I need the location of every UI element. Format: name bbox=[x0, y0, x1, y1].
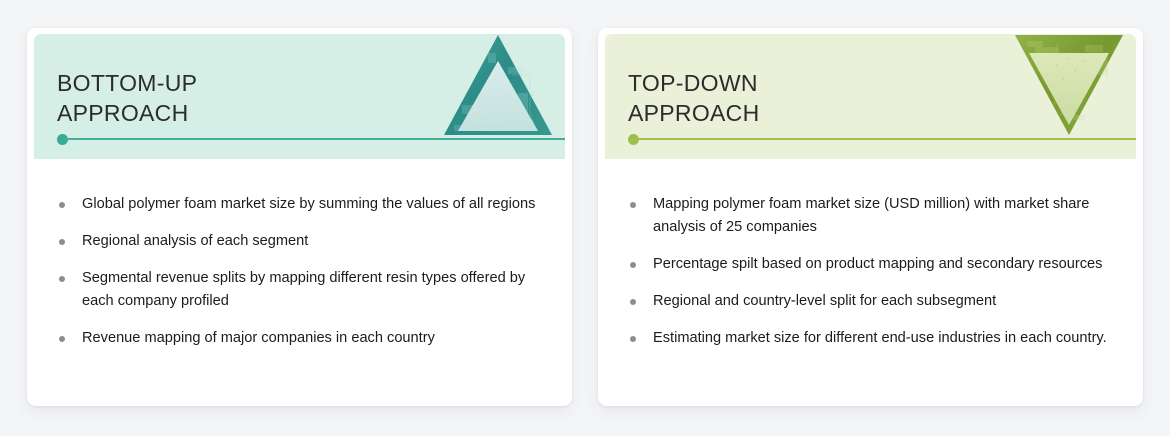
list-item-text: Mapping polymer foam market size (USD mi… bbox=[653, 196, 1089, 235]
bullet-dot-icon bbox=[630, 262, 636, 268]
approach-comparison-board: BOTTOM-UP APPROACH bbox=[0, 0, 1170, 436]
bullet-dot-icon bbox=[59, 276, 65, 282]
list-item: Regional and country-level split for eac… bbox=[622, 290, 1127, 313]
list-item: Percentage spilt based on product mappin… bbox=[622, 253, 1127, 276]
list-item: Revenue mapping of major companies in ea… bbox=[51, 327, 556, 350]
bullet-dot-icon bbox=[630, 202, 636, 208]
list-item: Estimating market size for different end… bbox=[622, 327, 1127, 350]
bullet-list-top-down: Mapping polymer foam market size (USD mi… bbox=[622, 193, 1127, 350]
list-item-text: Regional and country-level split for eac… bbox=[653, 293, 996, 309]
header-rule-bottom-up bbox=[57, 138, 565, 140]
triangle-up-icon bbox=[442, 34, 554, 139]
list-item-text: Percentage spilt based on product mappin… bbox=[653, 256, 1102, 272]
list-item-text: Revenue mapping of major companies in ea… bbox=[82, 330, 435, 346]
card-header-bottom-up: BOTTOM-UP APPROACH bbox=[34, 34, 565, 159]
list-item: Regional analysis of each segment bbox=[51, 230, 556, 253]
triangle-down-icon bbox=[1013, 34, 1125, 139]
list-item: Mapping polymer foam market size (USD mi… bbox=[622, 193, 1127, 239]
bullet-dot-icon bbox=[59, 202, 65, 208]
list-item: Segmental revenue splits by mapping diff… bbox=[51, 267, 556, 313]
bullet-dot-icon bbox=[59, 336, 65, 342]
header-rule-top-down bbox=[628, 138, 1136, 140]
card-top-down-approach: TOP-DOWN APPROACH bbox=[598, 28, 1143, 406]
list-item-text: Regional analysis of each segment bbox=[82, 233, 308, 249]
bullet-dot-icon bbox=[630, 336, 636, 342]
card-header-top-down: TOP-DOWN APPROACH bbox=[605, 34, 1136, 159]
list-item-text: Global polymer foam market size by summi… bbox=[82, 196, 535, 212]
card-bottom-up-approach: BOTTOM-UP APPROACH bbox=[27, 28, 572, 406]
card-title-bottom-up: BOTTOM-UP APPROACH bbox=[57, 68, 197, 128]
list-item-text: Segmental revenue splits by mapping diff… bbox=[82, 270, 525, 309]
list-item-text: Estimating market size for different end… bbox=[653, 330, 1107, 346]
rule-line bbox=[63, 138, 565, 140]
card-title-top-down: TOP-DOWN APPROACH bbox=[628, 68, 759, 128]
list-item: Global polymer foam market size by summi… bbox=[51, 193, 556, 216]
bullet-dot-icon bbox=[59, 239, 65, 245]
bullet-list-bottom-up: Global polymer foam market size by summi… bbox=[51, 193, 556, 350]
rule-line bbox=[634, 138, 1136, 140]
bullet-dot-icon bbox=[630, 299, 636, 305]
